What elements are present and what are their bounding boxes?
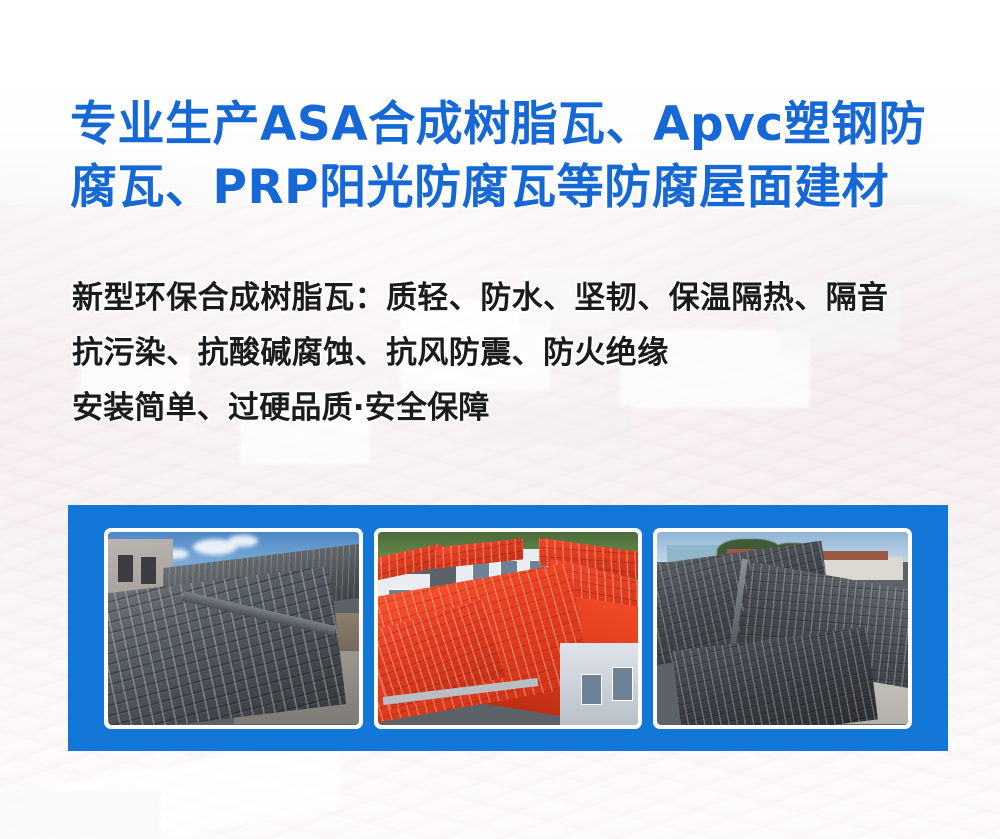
- photo1-tile-texture: [108, 566, 347, 724]
- photo-red-resin-tile-roof: [378, 532, 638, 725]
- photo3-village-roof: [813, 551, 888, 561]
- photo-frame-dark-grey-village-roof[interactable]: [653, 528, 912, 729]
- subtitle-block: 新型环保合成树脂瓦：质轻、防水、坚韧、保温隔热、隔音 抗污染、抗酸碱腐蚀、抗风防…: [72, 271, 972, 436]
- page-title: 专业生产ASA合成树脂瓦、Apvc塑钢防 腐瓦、PRP阳光防腐瓦等防腐屋面建材: [70, 93, 950, 219]
- subtitle-line-1: 新型环保合成树脂瓦：质轻、防水、坚韧、保温隔热、隔音: [72, 271, 972, 326]
- photo1-main-roof: [108, 566, 347, 724]
- subtitle-line-3: 安装简单、过硬品质·安全保障: [72, 381, 972, 436]
- photo2-window: [612, 667, 633, 702]
- photo-frame-grey-resin-tile-roof[interactable]: [104, 528, 363, 729]
- subtitle-line-2: 抗污染、抗酸碱腐蚀、抗风防震、防火绝缘: [72, 326, 972, 381]
- photo1-window: [118, 555, 133, 582]
- product-photo-panel: [68, 505, 948, 751]
- headline-line-1: 专业生产ASA合成树脂瓦、Apvc塑钢防: [70, 93, 950, 156]
- photo1-window: [141, 557, 156, 584]
- headline-line-2: 腐瓦、PRP阳光防腐瓦等防腐屋面建材: [70, 156, 950, 219]
- photo-frame-red-resin-tile-roof[interactable]: [374, 528, 642, 729]
- promo-banner: 专业生产ASA合成树脂瓦、Apvc塑钢防 腐瓦、PRP阳光防腐瓦等防腐屋面建材 …: [0, 0, 1000, 839]
- photo-dark-grey-village-roof: [657, 532, 908, 725]
- photo2-window: [581, 674, 602, 705]
- photo-grey-resin-tile-roof: [108, 532, 359, 725]
